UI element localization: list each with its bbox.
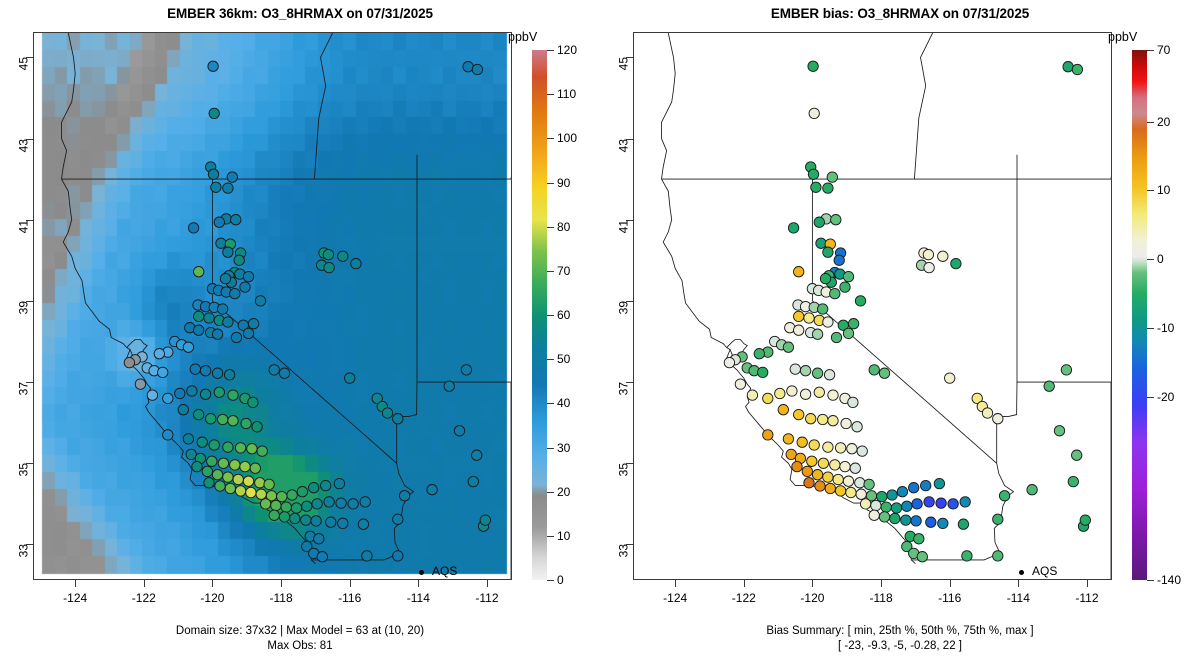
- y-tick-label: 37: [16, 382, 30, 395]
- monitor-dot[interactable]: [393, 551, 403, 561]
- monitor-dot[interactable]: [814, 217, 824, 227]
- monitor-dots: [724, 61, 1090, 562]
- monitor-dot[interactable]: [312, 499, 322, 509]
- x-tick-label: -120: [182, 591, 242, 605]
- monitor-dot[interactable]: [264, 479, 274, 489]
- footer-model-line1: Domain size: 37x32 | Max Model = 63 at (…: [0, 624, 600, 639]
- monitor-dot[interactable]: [472, 450, 482, 460]
- monitor-dot[interactable]: [993, 514, 1003, 524]
- monitor-dot[interactable]: [228, 390, 238, 400]
- monitor-dot[interactable]: [255, 478, 265, 488]
- monitor-dot[interactable]: [215, 481, 225, 491]
- monitor-dot[interactable]: [345, 373, 355, 383]
- monitor-dot[interactable]: [812, 470, 822, 480]
- monitor-dot[interactable]: [183, 434, 193, 444]
- monitor-dot[interactable]: [224, 370, 234, 380]
- monitor-dot[interactable]: [917, 552, 927, 562]
- monitor-dot[interactable]: [824, 370, 834, 380]
- monitor-dot[interactable]: [924, 262, 934, 272]
- monitor-dot[interactable]: [255, 296, 265, 306]
- monitor-dot[interactable]: [843, 271, 853, 281]
- monitor-dot[interactable]: [909, 483, 919, 493]
- monitor-dot[interactable]: [999, 491, 1009, 501]
- monitor-dot[interactable]: [938, 518, 948, 528]
- monitor-dot[interactable]: [948, 499, 958, 509]
- x-tick-label: -124: [45, 591, 105, 605]
- monitor-dot[interactable]: [246, 487, 256, 497]
- monitor-dot[interactable]: [194, 325, 204, 335]
- monitor-dot[interactable]: [890, 513, 900, 523]
- monitor-dot[interactable]: [257, 446, 267, 456]
- monitor-dot[interactable]: [399, 491, 409, 501]
- monitor-dot[interactable]: [234, 255, 244, 265]
- monitor-dot[interactable]: [1044, 381, 1054, 391]
- y-tick-label: 33: [16, 544, 30, 557]
- monitor-dot[interactable]: [235, 443, 245, 453]
- monitor-dot[interactable]: [833, 474, 843, 484]
- monitor-dot[interactable]: [825, 483, 835, 493]
- monitor-dot[interactable]: [358, 519, 368, 529]
- monitor-dot[interactable]: [271, 500, 281, 510]
- monitor-dot[interactable]: [194, 409, 204, 419]
- monitor-dot[interactable]: [279, 368, 289, 378]
- monitor-dot[interactable]: [208, 169, 218, 179]
- monitor-dot[interactable]: [200, 366, 210, 376]
- monitor-dot[interactable]: [794, 325, 804, 335]
- monitor-dot[interactable]: [218, 414, 228, 424]
- monitor-dot[interactable]: [233, 474, 243, 484]
- monitor-dot[interactable]: [962, 551, 972, 561]
- monitor-dot[interactable]: [802, 466, 812, 476]
- monitor-dot[interactable]: [827, 172, 837, 182]
- monitor-dot[interactable]: [804, 478, 814, 488]
- monitor-dot[interactable]: [269, 510, 279, 520]
- monitor-dot[interactable]: [993, 551, 1003, 561]
- monitor-dot[interactable]: [794, 409, 804, 419]
- monitor-dot[interactable]: [147, 390, 157, 400]
- monitor-dot[interactable]: [1063, 62, 1073, 72]
- monitor-dot[interactable]: [163, 393, 173, 403]
- monitor-dot[interactable]: [260, 499, 270, 509]
- x-tick: [950, 580, 951, 587]
- monitor-dot[interactable]: [351, 258, 361, 268]
- monitor-dot[interactable]: [235, 486, 245, 496]
- colorbar-tick: [547, 403, 554, 404]
- monitor-dot[interactable]: [243, 328, 253, 338]
- monitor-dot[interactable]: [835, 486, 845, 496]
- monitor-dot[interactable]: [225, 483, 235, 493]
- colorbar-tick: [547, 138, 554, 139]
- monitor-dot[interactable]: [856, 489, 866, 499]
- footer-model-line2: Max Obs: 81: [0, 639, 600, 654]
- map-plot-model[interactable]: AQS: [33, 32, 512, 580]
- monitor-dot[interactable]: [1072, 450, 1082, 460]
- monitor-dot[interactable]: [324, 497, 334, 507]
- monitor-dot[interactable]: [228, 416, 238, 426]
- monitor-dot[interactable]: [360, 497, 370, 507]
- monitor-dot[interactable]: [806, 414, 816, 424]
- monitor-dot[interactable]: [763, 430, 773, 440]
- monitor-dot[interactable]: [945, 373, 955, 383]
- monitor-dot[interactable]: [135, 379, 145, 389]
- monitor-dot[interactable]: [323, 249, 333, 259]
- monitor-dot[interactable]: [783, 434, 793, 444]
- colorbar-tick: [1147, 397, 1154, 398]
- monitor-dot[interactable]: [231, 332, 241, 342]
- monitor-dot[interactable]: [290, 513, 300, 523]
- monitor-dot[interactable]: [209, 440, 219, 450]
- monitor-dot[interactable]: [321, 480, 331, 490]
- monitor-dot[interactable]: [877, 491, 887, 501]
- monitor-dot[interactable]: [192, 461, 202, 471]
- monitor-dot[interactable]: [800, 366, 810, 376]
- monitor-dot[interactable]: [923, 249, 933, 259]
- monitor-dot[interactable]: [302, 501, 312, 511]
- monitor-dot[interactable]: [879, 368, 889, 378]
- monitor-dot[interactable]: [818, 414, 828, 424]
- monitor-dot[interactable]: [852, 422, 862, 432]
- monitor-dot[interactable]: [735, 379, 745, 389]
- monitor-dot[interactable]: [809, 440, 819, 450]
- monitor-dot[interactable]: [754, 349, 764, 359]
- monitor-dot[interactable]: [993, 414, 1003, 424]
- monitor-dot[interactable]: [869, 510, 879, 520]
- monitor-dot[interactable]: [763, 393, 773, 403]
- colorbar-tick: [1147, 580, 1154, 581]
- monitor-dot[interactable]: [1054, 426, 1064, 436]
- monitor-dot[interactable]: [934, 478, 944, 488]
- monitor-dot[interactable]: [788, 223, 798, 233]
- monitor-dot[interactable]: [807, 456, 817, 466]
- colorbar-tick: [547, 183, 554, 184]
- colorbar-tick-label: 60: [557, 308, 570, 322]
- monitor-dot[interactable]: [855, 296, 865, 306]
- monitor-dot[interactable]: [223, 183, 233, 193]
- monitor-dot[interactable]: [818, 458, 828, 468]
- monitor-dot[interactable]: [818, 304, 828, 314]
- monitor-dot[interactable]: [212, 368, 222, 378]
- monitor-dot[interactable]: [864, 479, 874, 489]
- monitor-dot[interactable]: [190, 364, 200, 374]
- monitor-dot[interactable]: [982, 408, 992, 418]
- footer-bias-line1: Bias Summary: [ min, 25th %, 50th %, 75t…: [600, 624, 1200, 639]
- monitor-dot[interactable]: [211, 182, 221, 192]
- monitor-dot[interactable]: [800, 389, 810, 399]
- monitor-dot[interactable]: [223, 317, 233, 327]
- monitor-dot[interactable]: [326, 517, 336, 527]
- monitor-dot[interactable]: [1061, 365, 1071, 375]
- monitor-dot[interactable]: [281, 502, 291, 512]
- monitor-dot[interactable]: [936, 498, 946, 508]
- colorbar-tick-label: 110: [557, 87, 576, 101]
- y-tick-label: 41: [16, 220, 30, 233]
- monitor-dot[interactable]: [879, 512, 889, 522]
- footer-model: Domain size: 37x32 | Max Model = 63 at (…: [0, 624, 600, 654]
- monitor-dot[interactable]: [444, 381, 454, 391]
- monitor-dot[interactable]: [792, 461, 802, 471]
- monitor-dot[interactable]: [287, 490, 297, 500]
- monitor-dot[interactable]: [240, 282, 250, 292]
- monitor-dot[interactable]: [194, 267, 204, 277]
- monitor-dot[interactable]: [338, 251, 348, 261]
- monitor-dot[interactable]: [393, 514, 403, 524]
- y-tick-label: 43: [16, 139, 30, 152]
- monitor-dot[interactable]: [1068, 476, 1078, 486]
- monitor-dot[interactable]: [830, 288, 840, 298]
- monitor-dot[interactable]: [212, 470, 222, 480]
- monitor-dot[interactable]: [301, 515, 311, 525]
- monitor-dot[interactable]: [843, 476, 853, 486]
- monitor-dot[interactable]: [202, 466, 212, 476]
- monitor-dot[interactable]: [794, 267, 804, 277]
- monitor-dot[interactable]: [747, 390, 757, 400]
- monitor-dot[interactable]: [194, 311, 204, 321]
- monitor-dot[interactable]: [724, 357, 734, 367]
- x-tick: [675, 580, 676, 587]
- monitor-dot[interactable]: [823, 183, 833, 193]
- monitor-dot[interactable]: [208, 61, 218, 71]
- monitor-dot[interactable]: [860, 499, 870, 509]
- monitor-dot[interactable]: [815, 481, 825, 491]
- colorbar-tick-label: 20: [1157, 115, 1170, 129]
- monitor-dot[interactable]: [804, 313, 814, 323]
- monitor-dot[interactable]: [881, 502, 891, 512]
- monitor-dot[interactable]: [216, 238, 226, 248]
- monitor-dot[interactable]: [775, 388, 785, 398]
- monitor-dot[interactable]: [823, 442, 833, 452]
- monitor-dot[interactable]: [901, 515, 911, 525]
- monitor-dot[interactable]: [243, 476, 253, 486]
- monitor-dot[interactable]: [197, 437, 207, 447]
- monitor-dot[interactable]: [256, 489, 266, 499]
- monitor-dot[interactable]: [317, 552, 327, 562]
- aqs-legend-model: AQS: [432, 564, 457, 578]
- monitor-dot[interactable]: [212, 329, 222, 339]
- monitor-dot[interactable]: [311, 516, 321, 526]
- monitor-dot[interactable]: [951, 258, 961, 268]
- monitor-dot[interactable]: [823, 472, 833, 482]
- monitor-dot[interactable]: [843, 328, 853, 338]
- colorbar-tick: [547, 94, 554, 95]
- monitor-dot[interactable]: [463, 62, 473, 72]
- monitor-dot[interactable]: [808, 61, 818, 71]
- monitor-dot[interactable]: [823, 317, 833, 327]
- monitor-dot[interactable]: [218, 458, 228, 468]
- panel-model: EMBER 36km: O3_8HRMAX on 07/31/2025 AQS …: [0, 0, 600, 672]
- monitor-dot[interactable]: [809, 108, 819, 118]
- monitor-dot[interactable]: [209, 108, 219, 118]
- monitor-dot[interactable]: [831, 215, 841, 225]
- y-tick-label: 41: [616, 220, 630, 233]
- monitor-dot[interactable]: [204, 478, 214, 488]
- monitor-dot[interactable]: [207, 456, 217, 466]
- colorbar-tick: [547, 448, 554, 449]
- monitor-dot[interactable]: [252, 422, 262, 432]
- monitor-dot[interactable]: [468, 476, 478, 486]
- monitor-dot[interactable]: [828, 416, 838, 426]
- monitor-dot[interactable]: [891, 503, 901, 513]
- monitor-dot[interactable]: [324, 262, 334, 272]
- monitor-dot[interactable]: [427, 485, 437, 495]
- monitor-dot[interactable]: [154, 349, 164, 359]
- x-tick: [75, 580, 76, 587]
- monitor-dot[interactable]: [911, 516, 921, 526]
- monitor-dot[interactable]: [823, 247, 833, 257]
- monitor-dot[interactable]: [850, 463, 860, 473]
- monitor-dot[interactable]: [480, 515, 490, 525]
- monitor-dot[interactable]: [958, 519, 968, 529]
- monitor-dot[interactable]: [914, 534, 924, 544]
- monitor-dot[interactable]: [382, 408, 392, 418]
- colorbar-units-model: ppbV: [508, 30, 537, 44]
- x-tick-label: -118: [251, 591, 311, 605]
- monitor-dot[interactable]: [926, 517, 936, 527]
- monitor-dot[interactable]: [269, 365, 279, 375]
- x-tick-label: -118: [851, 591, 911, 605]
- colorbar-tick: [547, 536, 554, 537]
- x-tick-label: -116: [320, 591, 380, 605]
- colorbar-tick-label: 20: [557, 485, 570, 499]
- monitor-dot[interactable]: [840, 282, 850, 292]
- monitor-dot[interactable]: [163, 430, 173, 440]
- monitor-dot[interactable]: [309, 483, 319, 493]
- monitor-dot[interactable]: [938, 251, 948, 261]
- monitor-dot[interactable]: [834, 255, 844, 265]
- monitor-dot[interactable]: [960, 497, 970, 507]
- monitor-dot[interactable]: [1080, 515, 1090, 525]
- colorbar-tick: [1147, 328, 1154, 329]
- monitor-dot[interactable]: [794, 311, 804, 321]
- monitor-dot[interactable]: [338, 518, 348, 528]
- monitor-dot[interactable]: [787, 386, 797, 396]
- colorbar-units-bias: ppbV: [1108, 30, 1137, 44]
- monitor-dot[interactable]: [175, 388, 185, 398]
- monitor-dot[interactable]: [808, 169, 818, 179]
- monitor-dot[interactable]: [314, 534, 324, 544]
- aqs-legend-bias: AQS: [1032, 564, 1057, 578]
- monitor-dot[interactable]: [831, 332, 841, 342]
- monitor-dot[interactable]: [820, 273, 830, 283]
- monitor-dot[interactable]: [454, 426, 464, 436]
- monitor-dot[interactable]: [291, 503, 301, 513]
- monitor-dot[interactable]: [223, 472, 233, 482]
- monitor-dot[interactable]: [297, 487, 307, 497]
- monitor-dot[interactable]: [812, 368, 822, 378]
- monitor-dot[interactable]: [206, 414, 216, 424]
- monitor-dot[interactable]: [218, 304, 228, 314]
- monitor-dot[interactable]: [334, 478, 344, 488]
- monitor-dot[interactable]: [230, 460, 240, 470]
- colorbar-tick: [1147, 259, 1154, 260]
- panel-bias-title: EMBER bias: O3_8HRMAX on 07/31/2025: [600, 6, 1200, 21]
- monitor-dot[interactable]: [857, 446, 867, 456]
- monitor-dot[interactable]: [835, 443, 845, 453]
- monitor-dot[interactable]: [230, 288, 240, 298]
- monitor-dot[interactable]: [220, 273, 230, 283]
- map-plot-bias[interactable]: AQS: [633, 32, 1112, 580]
- monitor-dot[interactable]: [783, 342, 793, 352]
- monitor-dot[interactable]: [362, 551, 372, 561]
- monitor-dot[interactable]: [231, 215, 241, 225]
- monitor-dot[interactable]: [812, 329, 822, 339]
- monitor-dot[interactable]: [178, 405, 188, 415]
- y-tick-label: 37: [616, 382, 630, 395]
- monitor-dot[interactable]: [814, 387, 824, 397]
- monitor-dot[interactable]: [758, 367, 768, 377]
- monitor-dot[interactable]: [461, 365, 471, 375]
- monitor-dot[interactable]: [248, 319, 258, 329]
- monitor-dot[interactable]: [124, 357, 134, 367]
- x-tick: [144, 580, 145, 587]
- monitor-dot[interactable]: [183, 342, 193, 352]
- monitor-dot[interactable]: [348, 499, 358, 509]
- monitor-dot[interactable]: [778, 405, 788, 415]
- monitor-dot[interactable]: [912, 499, 922, 509]
- monitor-dot[interactable]: [848, 319, 858, 329]
- monitor-dot[interactable]: [790, 364, 800, 374]
- monitor-dot[interactable]: [223, 247, 233, 257]
- monitor-dot[interactable]: [200, 389, 210, 399]
- monitor-dot[interactable]: [848, 397, 858, 407]
- monitor-dot[interactable]: [241, 418, 251, 428]
- monitor-dot[interactable]: [871, 500, 881, 510]
- monitor-dot[interactable]: [924, 497, 934, 507]
- monitor-dot[interactable]: [250, 463, 260, 473]
- monitor-dot[interactable]: [393, 414, 403, 424]
- monitor-dot[interactable]: [846, 487, 856, 497]
- x-tick-label: -122: [714, 591, 774, 605]
- monitor-dot[interactable]: [847, 444, 857, 454]
- monitor-dot[interactable]: [869, 365, 879, 375]
- monitor-dot[interactable]: [243, 271, 253, 281]
- monitor-dot[interactable]: [277, 491, 287, 501]
- colorbar-tick-label: 100: [557, 131, 577, 145]
- monitor-dot[interactable]: [248, 397, 258, 407]
- monitor-dot[interactable]: [797, 437, 807, 447]
- aqs-legend-label: AQS: [432, 564, 457, 578]
- monitor-dot[interactable]: [902, 501, 912, 511]
- monitor-dot[interactable]: [1027, 485, 1037, 495]
- monitor-dot[interactable]: [841, 418, 851, 428]
- colorbar-tick: [547, 227, 554, 228]
- monitor-dot[interactable]: [336, 498, 346, 508]
- monitor-dot[interactable]: [240, 461, 250, 471]
- monitor-dot[interactable]: [188, 223, 198, 233]
- monitor-dot[interactable]: [227, 172, 237, 182]
- monitor-dot[interactable]: [214, 217, 224, 227]
- monitor-dot[interactable]: [887, 490, 897, 500]
- monitor-dot[interactable]: [840, 461, 850, 471]
- monitor-dot[interactable]: [921, 480, 931, 490]
- colorbar-tick-label: 10: [1157, 183, 1170, 197]
- monitor-dot[interactable]: [187, 386, 197, 396]
- monitor-dot[interactable]: [816, 238, 826, 248]
- monitor-dot[interactable]: [279, 512, 289, 522]
- monitor-dot[interactable]: [214, 387, 224, 397]
- monitor-dot[interactable]: [204, 313, 214, 323]
- monitor-dot[interactable]: [223, 442, 233, 452]
- monitor-dot[interactable]: [830, 460, 840, 470]
- monitor-dot[interactable]: [855, 478, 865, 488]
- monitor-dot[interactable]: [828, 390, 838, 400]
- monitor-dot[interactable]: [897, 487, 907, 497]
- monitor-dot[interactable]: [472, 64, 482, 74]
- monitor-dot[interactable]: [158, 367, 168, 377]
- monitor-dot[interactable]: [1072, 64, 1082, 74]
- y-tick-label: 45: [16, 57, 30, 70]
- monitor-dot[interactable]: [811, 182, 821, 192]
- monitor-dot[interactable]: [247, 444, 257, 454]
